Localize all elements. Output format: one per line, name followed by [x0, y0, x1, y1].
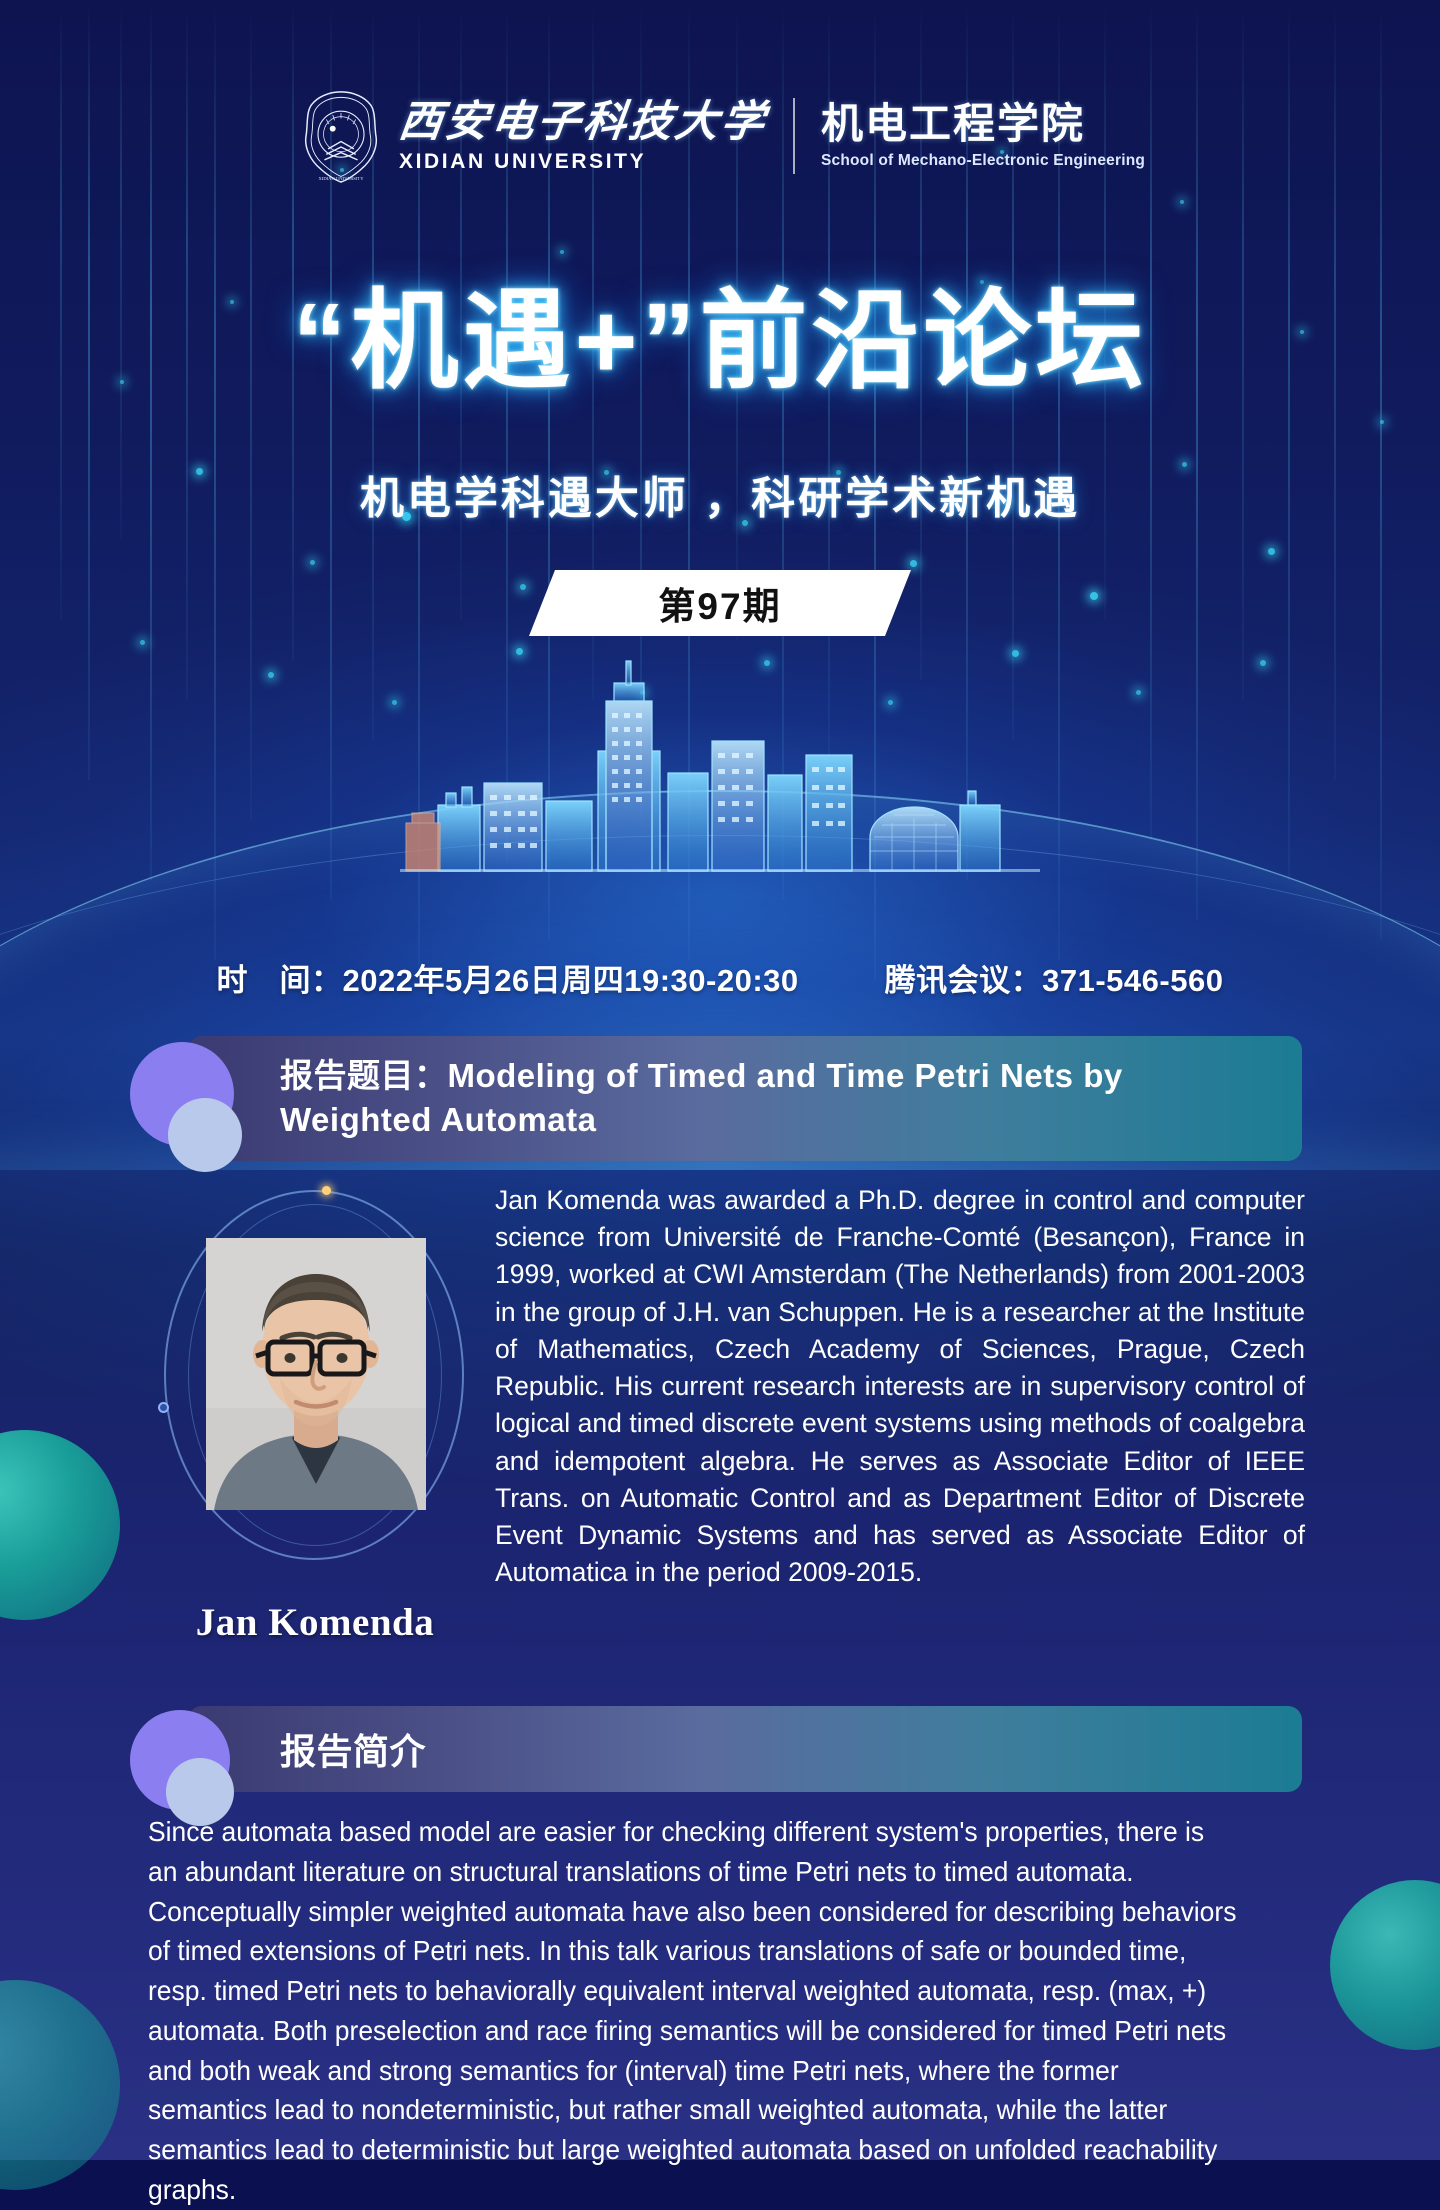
university-name-cn: 西安电子科技大学	[396, 101, 769, 144]
portrait-illustration	[206, 1238, 426, 1510]
episode-badge-label: 第97期	[658, 576, 781, 630]
ring-node-dot-icon	[158, 1402, 169, 1413]
event-meeting-id: 腾讯会议：371-546-560	[885, 955, 1224, 1000]
speaker-photo-frame	[150, 1190, 480, 1590]
glow-particle	[392, 700, 397, 705]
glow-particle	[1380, 420, 1384, 424]
abstract-heading-bar: 报告简介	[188, 1706, 1302, 1792]
glow-particle	[1268, 548, 1275, 555]
glow-particle	[268, 672, 274, 678]
xidian-crest-icon: XIDIAN UNIVERSITY	[295, 88, 387, 184]
university-name-en: XIDIAN UNIVERSITY	[399, 151, 767, 172]
header-divider	[793, 98, 795, 174]
abstract-heading-section: 报告简介	[130, 1706, 1302, 1792]
speaker-name: Jan Komenda	[150, 1600, 480, 1645]
poster-header: XIDIAN UNIVERSITY 西安电子科技大学 XIDIAN UNIVER…	[0, 88, 1440, 184]
event-time: 时 间：2022年5月26日周四19:30-20:30	[217, 955, 799, 1000]
svg-text:XIDIAN UNIVERSITY: XIDIAN UNIVERSITY	[318, 176, 364, 181]
talk-title-bar: 报告题目：Modeling of Timed and Time Petri Ne…	[188, 1036, 1302, 1161]
glow-particle	[516, 648, 523, 655]
glow-particle	[1136, 690, 1141, 695]
forum-subtitle: 机电学科遇大师 ，科研学术新机遇	[0, 462, 1440, 526]
glow-particle	[310, 560, 315, 565]
glow-particle	[560, 250, 564, 254]
talk-title-text: 报告题目：Modeling of Timed and Time Petri Ne…	[280, 1054, 1276, 1141]
school-name-cn: 机电工程学院	[821, 103, 1145, 145]
glow-particle	[1260, 660, 1266, 666]
glow-particle	[1180, 200, 1184, 204]
episode-badge: 第97期	[529, 570, 911, 636]
abstract-heading-text: 报告简介	[280, 1723, 426, 1775]
talk-title-section: 报告题目：Modeling of Timed and Time Petri Ne…	[130, 1036, 1302, 1161]
speaker-bio: Jan Komenda was awarded a Ph.D. degree i…	[495, 1182, 1305, 1591]
school-name-en: School of Mechano-Electronic Engineering	[821, 153, 1145, 169]
ring-accent-dot-icon	[322, 1186, 331, 1195]
glow-particle	[910, 560, 917, 567]
school-name-block: 机电工程学院 School of Mechano-Electronic Engi…	[821, 103, 1145, 169]
glow-particle	[520, 584, 526, 590]
light-streak	[120, 0, 122, 540]
abstract-body: Since automata based model are easier fo…	[148, 1812, 1239, 2210]
forum-main-title: “机遇+”前沿论坛	[0, 283, 1440, 400]
speaker-portrait	[206, 1238, 426, 1510]
university-name-block: 西安电子科技大学 XIDIAN UNIVERSITY	[399, 101, 767, 172]
glow-particle	[140, 640, 145, 645]
city-skyline-illustration	[400, 655, 1040, 895]
event-info-line: 时 间：2022年5月26日周四19:30-20:30 腾讯会议：371-546…	[0, 955, 1440, 1000]
glow-particle	[1090, 592, 1098, 600]
